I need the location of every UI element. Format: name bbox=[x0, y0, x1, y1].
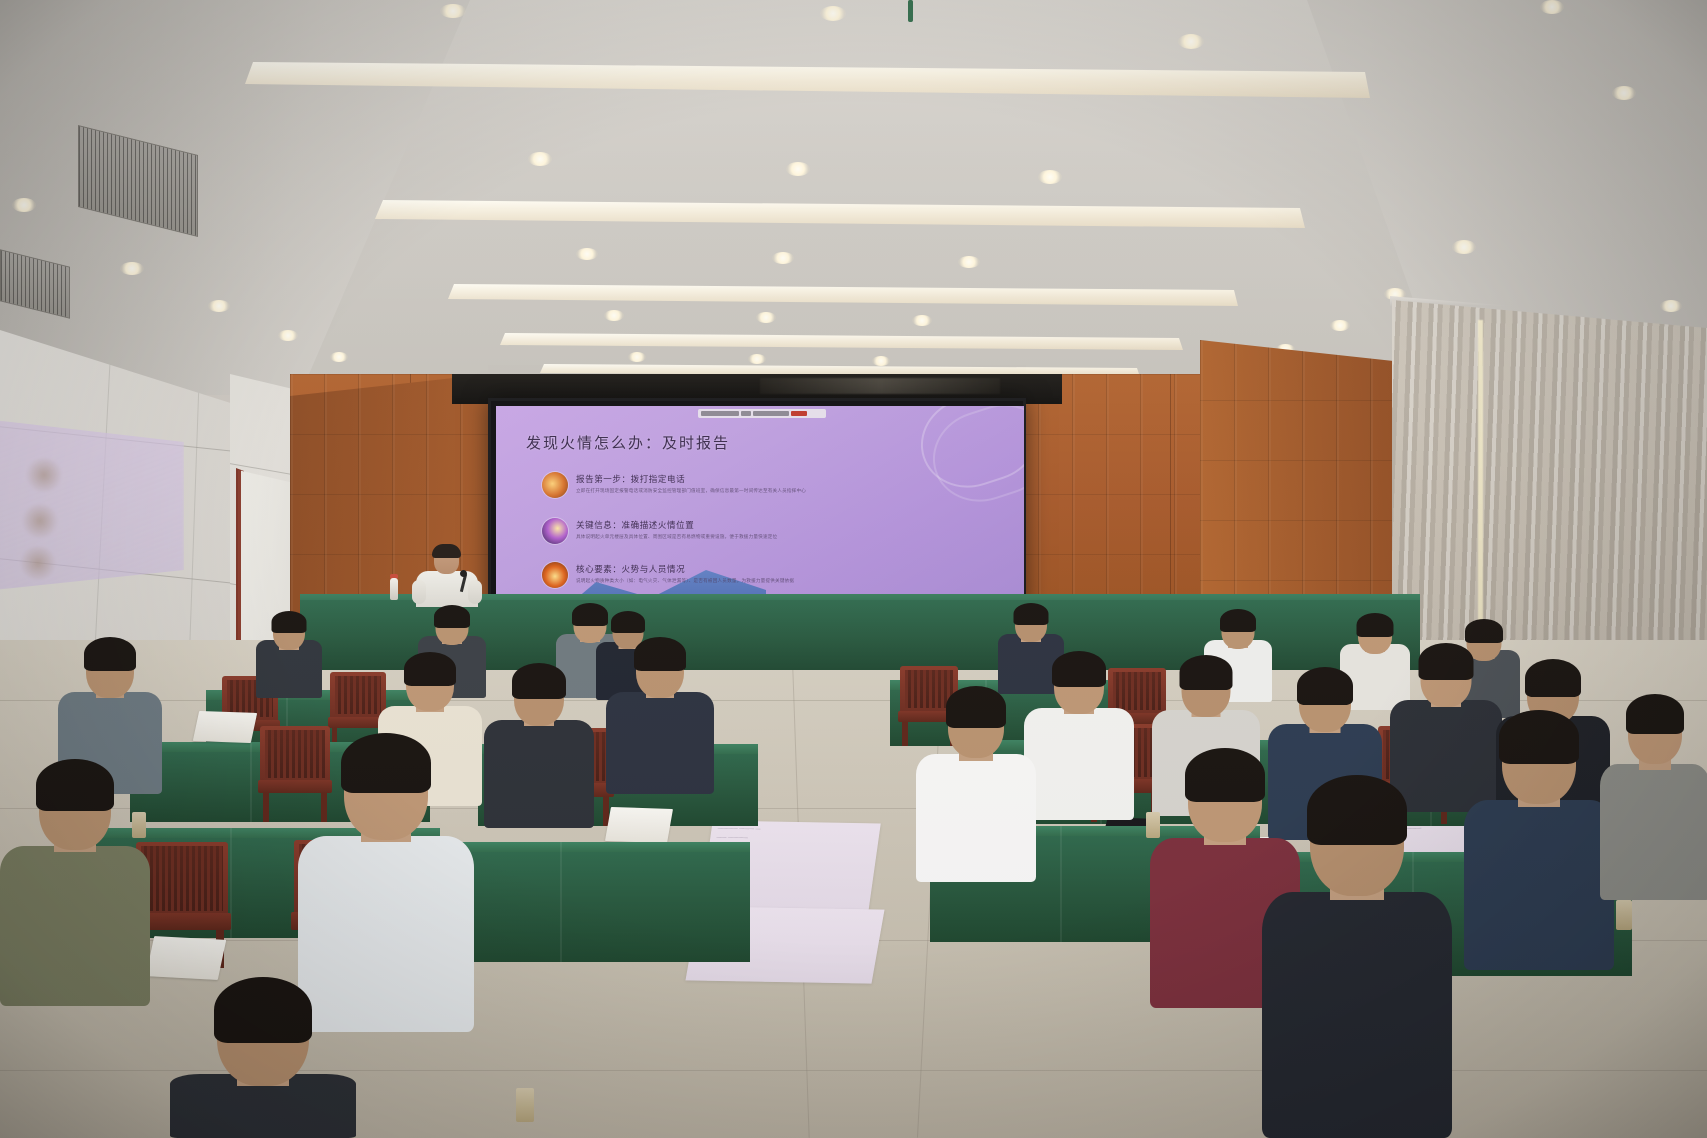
presenter-hair bbox=[432, 544, 461, 558]
beverage-can bbox=[516, 1088, 534, 1122]
presenter-arm-left bbox=[412, 580, 426, 604]
slide-bullet-1: 报告第一步：拨打指定电话 立即在打开现场固定报警电话或消防安全监控管理部门值班室… bbox=[542, 472, 992, 498]
attendee-hair bbox=[1525, 659, 1581, 697]
night-fire-photo-thumb-icon bbox=[542, 518, 568, 544]
downlight bbox=[912, 315, 932, 326]
downlight bbox=[1612, 86, 1636, 100]
downlight bbox=[748, 354, 766, 364]
slide-bullet-2-subtext: 具体说明起火单元楼层及具体位置、周围区域是否有易燃物或重要设施，便于救援力量快速… bbox=[576, 534, 777, 540]
toolbar-segment-3[interactable] bbox=[753, 411, 789, 416]
attendee-hair bbox=[1180, 655, 1233, 690]
downlight bbox=[278, 330, 298, 341]
presentation-slide: 发现火情怎么办：及时报告 报告第一步：拨打指定电话 立即在打开现场固定报警电话或… bbox=[496, 406, 1024, 610]
projection-screen[interactable]: 发现火情怎么办：及时报告 报告第一步：拨打指定电话 立即在打开现场固定报警电话或… bbox=[488, 398, 1026, 612]
downlight bbox=[1178, 34, 1204, 49]
slide-bullet-1-heading: 报告第一步：拨打指定电话 bbox=[576, 473, 806, 485]
attendee-hair bbox=[404, 652, 456, 686]
slide-bullet-3-subtext: 说明起火物质种类大小（如：电气火灾、气体泄漏等）、是否有被困人员数量，为救援力量… bbox=[576, 578, 794, 584]
downlight bbox=[604, 310, 624, 321]
slide-reflection-on-wall bbox=[0, 420, 184, 590]
slide-bullet-2-heading: 关键信息：准确描述火情位置 bbox=[576, 519, 777, 531]
beverage-can bbox=[1616, 900, 1632, 930]
downlight bbox=[1452, 240, 1476, 254]
water-bottle bbox=[390, 578, 398, 600]
flame-photo-thumb-icon bbox=[542, 562, 568, 588]
attendee bbox=[916, 692, 1036, 882]
attendee-hair bbox=[946, 686, 1006, 728]
attendee-hair bbox=[1052, 651, 1106, 687]
downlight bbox=[820, 6, 846, 21]
attendee-torso bbox=[1262, 892, 1452, 1138]
toolbar-segment-1[interactable] bbox=[701, 411, 739, 416]
attendee-hair bbox=[1220, 609, 1256, 632]
attendee-torso bbox=[0, 846, 150, 1006]
notebook bbox=[146, 936, 227, 980]
attendee bbox=[1024, 656, 1134, 820]
attendee-torso bbox=[1464, 800, 1614, 970]
slide-bullet-1-subtext: 立即在打开现场固定报警电话或消防安全监控管理部门值班室，确保信息最第一时间传达至… bbox=[576, 488, 806, 494]
attendee bbox=[1464, 718, 1614, 970]
attendee-torso bbox=[1024, 708, 1134, 820]
ceiling-hook bbox=[908, 0, 913, 22]
ceiling-light-panel-2 bbox=[375, 200, 1305, 228]
attendee-hair bbox=[434, 605, 470, 628]
microphone-head bbox=[460, 570, 467, 577]
downlight bbox=[772, 252, 794, 264]
attendee-hair bbox=[272, 611, 307, 633]
attendee-hair bbox=[1626, 694, 1684, 734]
attendee-torso bbox=[484, 720, 594, 828]
attendee bbox=[606, 642, 714, 794]
attendee-hair bbox=[84, 637, 136, 671]
ceiling-light-panel-4 bbox=[500, 333, 1183, 350]
downlight bbox=[958, 256, 980, 268]
recording-indicator[interactable] bbox=[791, 411, 807, 416]
attendee-hair bbox=[1465, 619, 1503, 643]
presenter-arm-right bbox=[468, 580, 482, 604]
fire-photo-thumb-icon bbox=[542, 472, 568, 498]
slide-bullet-3: 核心要素：火势与人员情况 说明起火物质种类大小（如：电气火灾、气体泄漏等）、是否… bbox=[542, 562, 992, 588]
attendee-torso bbox=[1600, 764, 1707, 900]
attendee-hair bbox=[1185, 748, 1265, 802]
attendee bbox=[1600, 700, 1707, 900]
attendee-hair bbox=[341, 733, 431, 793]
ceiling-light-panel-3 bbox=[448, 284, 1238, 306]
downlight bbox=[1660, 300, 1682, 312]
attendee-hair bbox=[1297, 667, 1353, 705]
led-text-banner bbox=[760, 378, 1000, 394]
attendee-torso bbox=[916, 754, 1036, 882]
downlight bbox=[1330, 320, 1350, 331]
slide-bullet-3-heading: 核心要素：火势与人员情况 bbox=[576, 563, 794, 575]
attendee-hair bbox=[512, 663, 566, 699]
slide-bullet-2: 关键信息：准确描述火情位置 具体说明起火单元楼层及具体位置、周围区域是否有易燃物… bbox=[542, 518, 992, 544]
downlight bbox=[120, 262, 144, 275]
attendee-hair bbox=[634, 637, 686, 671]
attendee bbox=[0, 766, 150, 1006]
downlight bbox=[872, 356, 890, 366]
downlight bbox=[330, 352, 348, 362]
downlight bbox=[1038, 170, 1062, 184]
downlight bbox=[756, 312, 776, 323]
downlight bbox=[12, 198, 36, 212]
conference-room-scene: 发现火情怎么办：及时报告 报告第一步：拨打指定电话 立即在打开现场固定报警电话或… bbox=[0, 0, 1707, 1138]
attendee-hair bbox=[1357, 613, 1394, 637]
downlight bbox=[208, 300, 230, 312]
attendee bbox=[256, 614, 322, 698]
attendee bbox=[484, 668, 594, 828]
attendee-hair bbox=[36, 759, 114, 811]
downlight bbox=[628, 352, 646, 362]
attendee-hair bbox=[1014, 603, 1049, 625]
attendee-hair bbox=[1419, 643, 1474, 680]
attendee bbox=[1262, 786, 1452, 1138]
notebook bbox=[193, 711, 257, 743]
audience-table bbox=[430, 842, 750, 962]
notebook bbox=[605, 807, 673, 843]
downlight bbox=[786, 162, 810, 176]
attendee-torso bbox=[606, 692, 714, 794]
attendee-hair bbox=[611, 611, 645, 633]
attendee-hair bbox=[1499, 710, 1579, 764]
attendee-hair bbox=[214, 977, 312, 1043]
presenter bbox=[416, 546, 478, 606]
downlight bbox=[576, 248, 598, 260]
downlight bbox=[1540, 0, 1564, 14]
attendee bbox=[170, 982, 356, 1138]
ceiling-left-slope bbox=[0, 0, 470, 395]
toolbar-segment-2[interactable] bbox=[741, 411, 751, 416]
attendee-hair bbox=[1307, 775, 1407, 845]
presentation-toolbar[interactable] bbox=[698, 409, 826, 418]
downlight bbox=[528, 152, 552, 166]
downlight bbox=[440, 4, 466, 18]
slide-title: 发现火情怎么办：及时报告 bbox=[526, 432, 730, 453]
